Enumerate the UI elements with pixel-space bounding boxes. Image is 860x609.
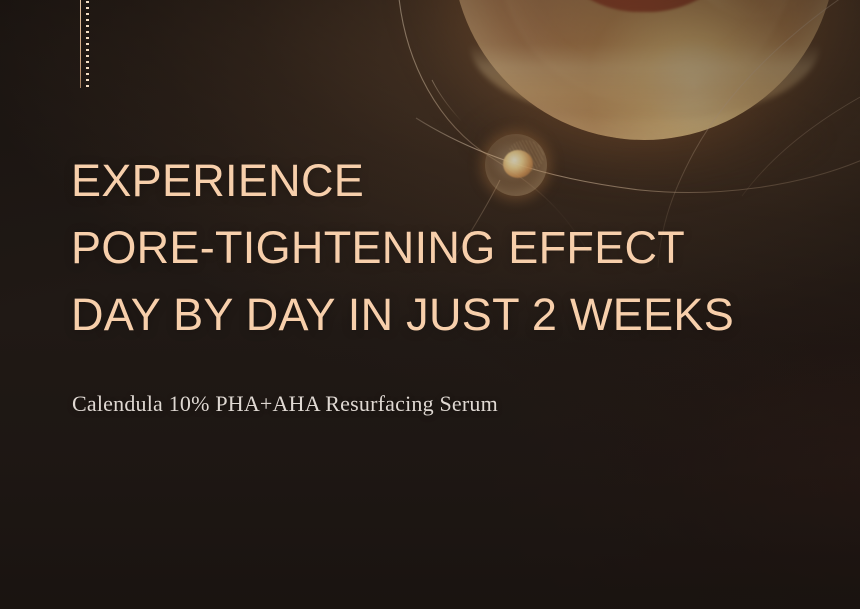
headline-line-2: PORE-TIGHTENING EFFECT xyxy=(71,214,811,281)
marker-solid-line xyxy=(80,0,81,88)
page-title: EXPERIENCE PORE-TIGHTENING EFFECT DAY BY… xyxy=(71,147,811,348)
serum-ad-poster: EXPERIENCE PORE-TIGHTENING EFFECT DAY BY… xyxy=(0,0,860,609)
headline-line-1: EXPERIENCE xyxy=(71,147,811,214)
marker-dotted-line xyxy=(86,1,89,87)
background-bottom-fade xyxy=(0,309,860,609)
dotted-rule-marker xyxy=(80,0,94,88)
headline-line-3: DAY BY DAY IN JUST 2 WEEKS xyxy=(71,281,811,348)
product-name-subtitle: Calendula 10% PHA+AHA Resurfacing Serum xyxy=(72,391,498,417)
